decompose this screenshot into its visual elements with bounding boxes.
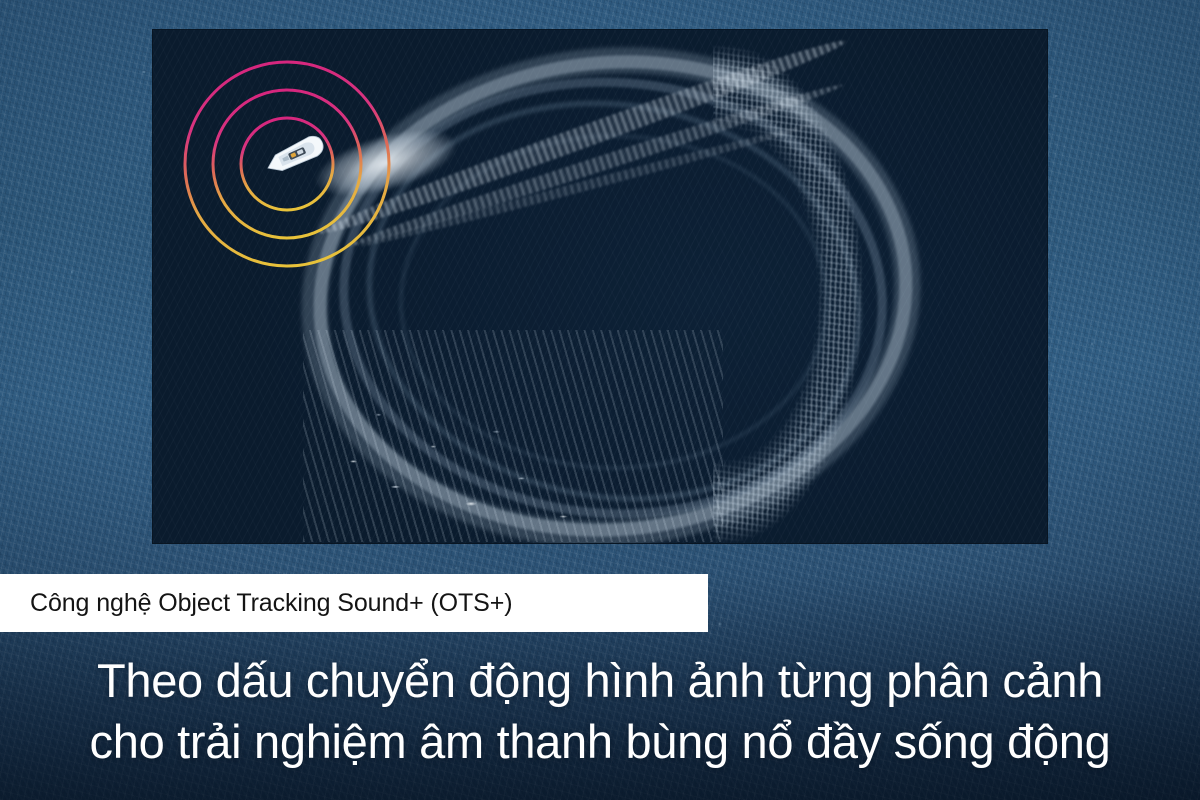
hero-photo [153,30,1047,543]
caption-label: Công nghệ Object Tracking Sound+ (OTS+) [30,589,512,618]
caption-bar: Công nghệ Object Tracking Sound+ (OTS+) [0,574,708,632]
wake-foam-lower-left [303,330,723,542]
headline-line-1: Theo dấu chuyển động hình ảnh từng phân … [0,650,1200,711]
headline-line-2: cho trải nghiệm âm thanh bùng nổ đầy sốn… [0,711,1200,772]
headline: Theo dấu chuyển động hình ảnh từng phân … [0,650,1200,772]
promo-banner: Công nghệ Object Tracking Sound+ (OTS+) … [0,0,1200,800]
